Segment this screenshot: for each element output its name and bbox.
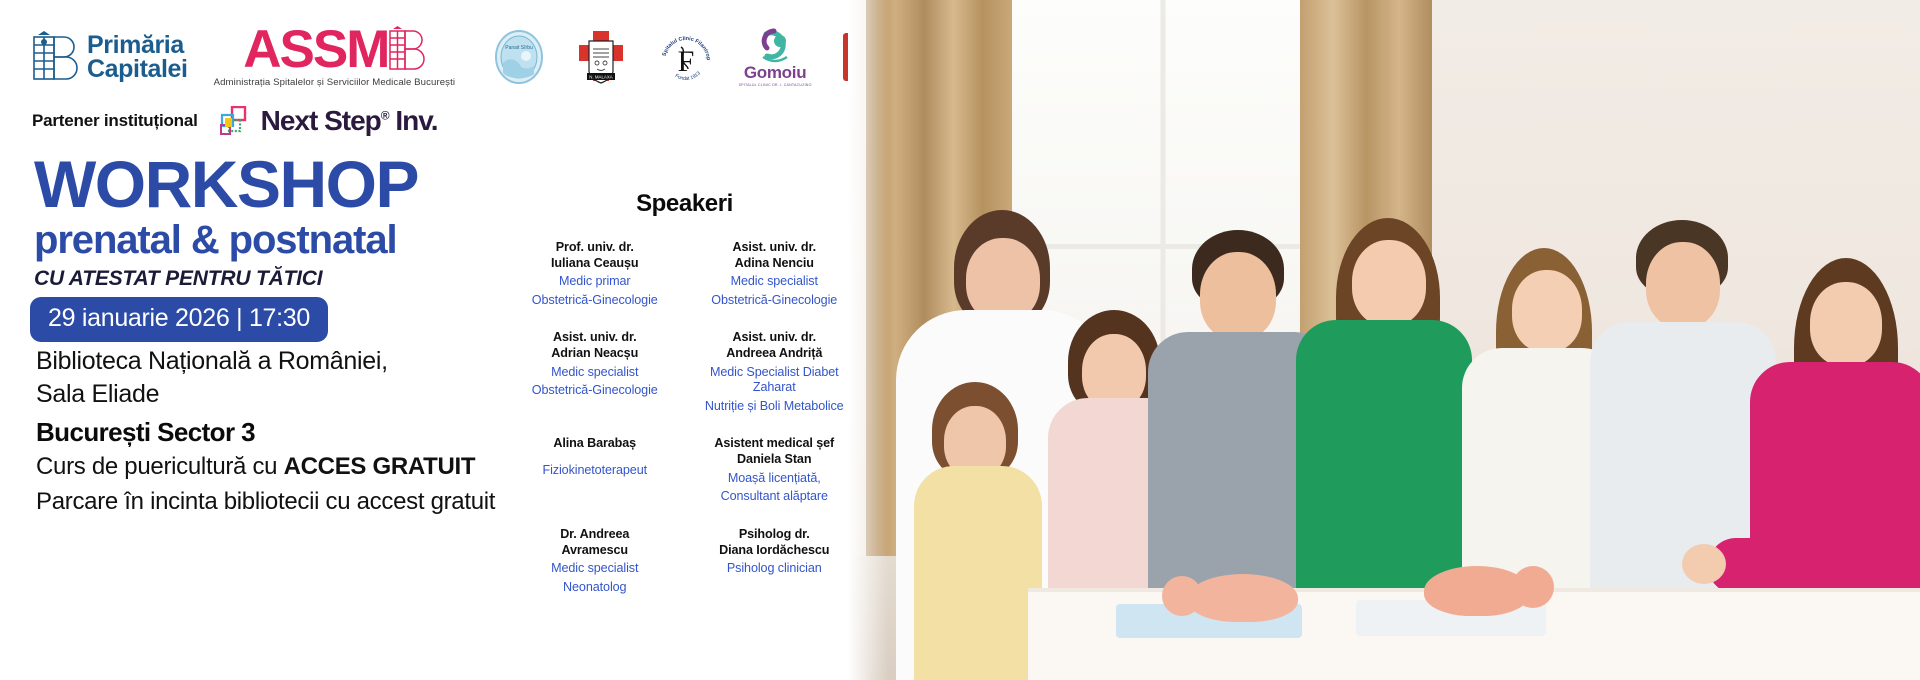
speaker-card: Alina Barabaș Fiziokinetoterapeut [512,436,678,504]
baby-doll-left [1188,574,1298,622]
speaker-title: Prof. univ. dr. [512,240,678,256]
speaker-title: Asistent medical șef [692,436,858,452]
speaker-role-2: Obstetrică-Ginecologie [512,383,678,399]
event-photo [848,0,1920,680]
course-prefix: Curs de puericultură cu [36,453,284,480]
speaker-spacer [512,452,678,460]
page-title: WORKSHOP [34,152,418,217]
torso [914,466,1042,680]
speaker-card: Dr. Andreea Avramescu Medic specialist N… [512,527,678,595]
head [1352,240,1426,326]
baby-doll-right [1424,566,1530,616]
svg-text:F: F [678,45,695,78]
title-block: WORKSHOP prenatal & postnatal CU ATESTAT… [34,152,418,291]
gomoiu-subtitle: SPITALUL CLINIC DR. I. CANTACUZINO [739,83,812,87]
assmb-logo: ASSM Administrația Spi [214,26,455,88]
spitalul-gomoiu-logo: Gomoiu SPITALUL CLINIC DR. I. CANTACUZIN… [737,28,813,87]
speaker-role-1: Psiholog clinician [692,561,858,577]
maternitatea-panait-sirbu-logo: Panait Sîrbu [493,29,545,85]
speakers-grid: Prof. univ. dr. Iuliana Ceaușu Medic pri… [512,240,857,595]
assmb-b-crest-icon [389,26,425,74]
venue-line1: Biblioteca Națională a României, [36,345,388,378]
hand [1682,544,1726,584]
speaker-title: Asist. univ. dr. [512,330,678,346]
head [1646,242,1720,328]
speakers-section: Speakeri Prof. univ. dr. Iuliana Ceaușu … [512,190,857,595]
speakers-heading: Speakeri [512,190,857,218]
city-sector: București Sector 3 [36,417,255,448]
primaria-capitalei-wordmark: Primăria Capitalei [87,33,188,81]
parking-note: Parcare în incinta bibliotecii cu accest… [36,488,495,516]
building-crest-icon [32,31,78,83]
next-step-suffix: Inv. [389,105,438,136]
person-yellow-top [914,210,1044,680]
partner-label: Partener instituțional [32,111,198,131]
speaker-card: Prof. univ. dr. Iuliana Ceaușu Medic pri… [512,240,678,308]
photo-left-fade [848,0,888,680]
photo-scene [848,0,1920,680]
speaker-role-1: Medic primar [512,274,678,290]
speaker-name: Diana Iordăchescu [692,543,858,559]
assmb-letters: ASSM [243,27,388,73]
speaker-role-1: Medic specialist [512,561,678,577]
speaker-role-1: Fiziokinetoterapeut [512,463,678,479]
spitalul-malaxa-logo: N. MALAXA [575,29,627,85]
speaker-title: Asist. univ. dr. [692,240,858,256]
svg-text:N. MALAXA: N. MALAXA [589,75,612,80]
arm [1708,538,1828,594]
speaker-name: Andreea Andriță [692,346,858,362]
gomoiu-wordmark: Gomoiu [744,64,806,81]
speaker-card: Asist. univ. dr. Adrian Neacșu Medic spe… [512,330,678,414]
page-tagline: CU ATESTAT PENTRU TĂTICI [34,267,418,291]
speaker-name: Adina Nenciu [692,256,858,272]
primaria-capitalei-logo: Primăria Capitalei [32,31,188,83]
speaker-role-2: Obstetrică-Ginecologie [512,293,678,309]
speaker-card: Asist. univ. dr. Adina Nenciu Medic spec… [692,240,858,308]
next-step-wordmark: Next Step® Inv. [261,105,438,137]
head [1200,252,1276,340]
speaker-card: Asist. univ. dr. Andreea Andriță Medic S… [692,330,858,414]
speaker-card: Psiholog dr. Diana Iordăchescu Psiholog … [692,527,858,595]
speaker-card: Asistent medical șef Daniela Stan Moașă … [692,436,858,504]
course-access-highlight: ACCES GRATUIT [284,453,476,480]
svg-text:Panait Sîrbu: Panait Sîrbu [505,45,533,51]
head [1512,270,1582,352]
head [1810,282,1882,366]
event-banner: Primăria Capitalei ASSM [0,0,1920,680]
speaker-title: Dr. Andreea [512,527,678,543]
registered-mark: ® [381,109,389,123]
course-access-line: Curs de puericultură cu ACCES GRATUIT [36,453,475,481]
page-subtitle: prenatal & postnatal [34,219,418,261]
next-step-squares-icon [220,106,254,136]
logo-row: Primăria Capitalei ASSM [32,22,897,92]
speaker-role-2: Obstetrică-Ginecologie [692,293,858,309]
speaker-role-2: Nutriție și Boli Metabolice [692,399,858,415]
speaker-title: Asist. univ. dr. [692,330,858,346]
speaker-name: Avramescu [512,543,678,559]
speaker-name: Alina Barabaș [512,436,678,452]
speaker-role-1: Moașă licențiată, [692,471,858,487]
speaker-title: Psiholog dr. [692,527,858,543]
assmb-subtitle: Administrația Spitalelor și Serviciilor … [214,77,455,88]
speaker-name: Daniela Stan [692,452,858,468]
next-step-brand: Next Step [261,105,381,136]
speaker-role-1: Medic specialist [512,365,678,381]
speaker-role-2: Neonatolog [512,580,678,596]
venue-address: Biblioteca Națională a României, Sala El… [36,345,388,411]
speaker-role-1: Medic Specialist Diabet Zaharat [692,365,858,396]
venue-line2: Sala Eliade [36,378,388,411]
speaker-role-2: Consultant alăptare [692,489,858,505]
pmb-line2: Capitalei [87,57,188,81]
spitalul-clinic-filantropia-logo: Spitalul Clinic Filantropia Fondat 1913 … [657,29,715,85]
date-time-badge: 29 ianuarie 2026 | 17:30 [30,297,328,342]
next-step-inv-logo: Next Step® Inv. [220,105,438,137]
pmb-line1: Primăria [87,33,188,57]
partner-row: Partener instituțional Next Step® Inv. [32,104,438,138]
speaker-name: Adrian Neacșu [512,346,678,362]
speaker-name: Iuliana Ceaușu [512,256,678,272]
assmb-wordmark: ASSM [243,26,425,74]
speaker-role-1: Medic specialist [692,274,858,290]
